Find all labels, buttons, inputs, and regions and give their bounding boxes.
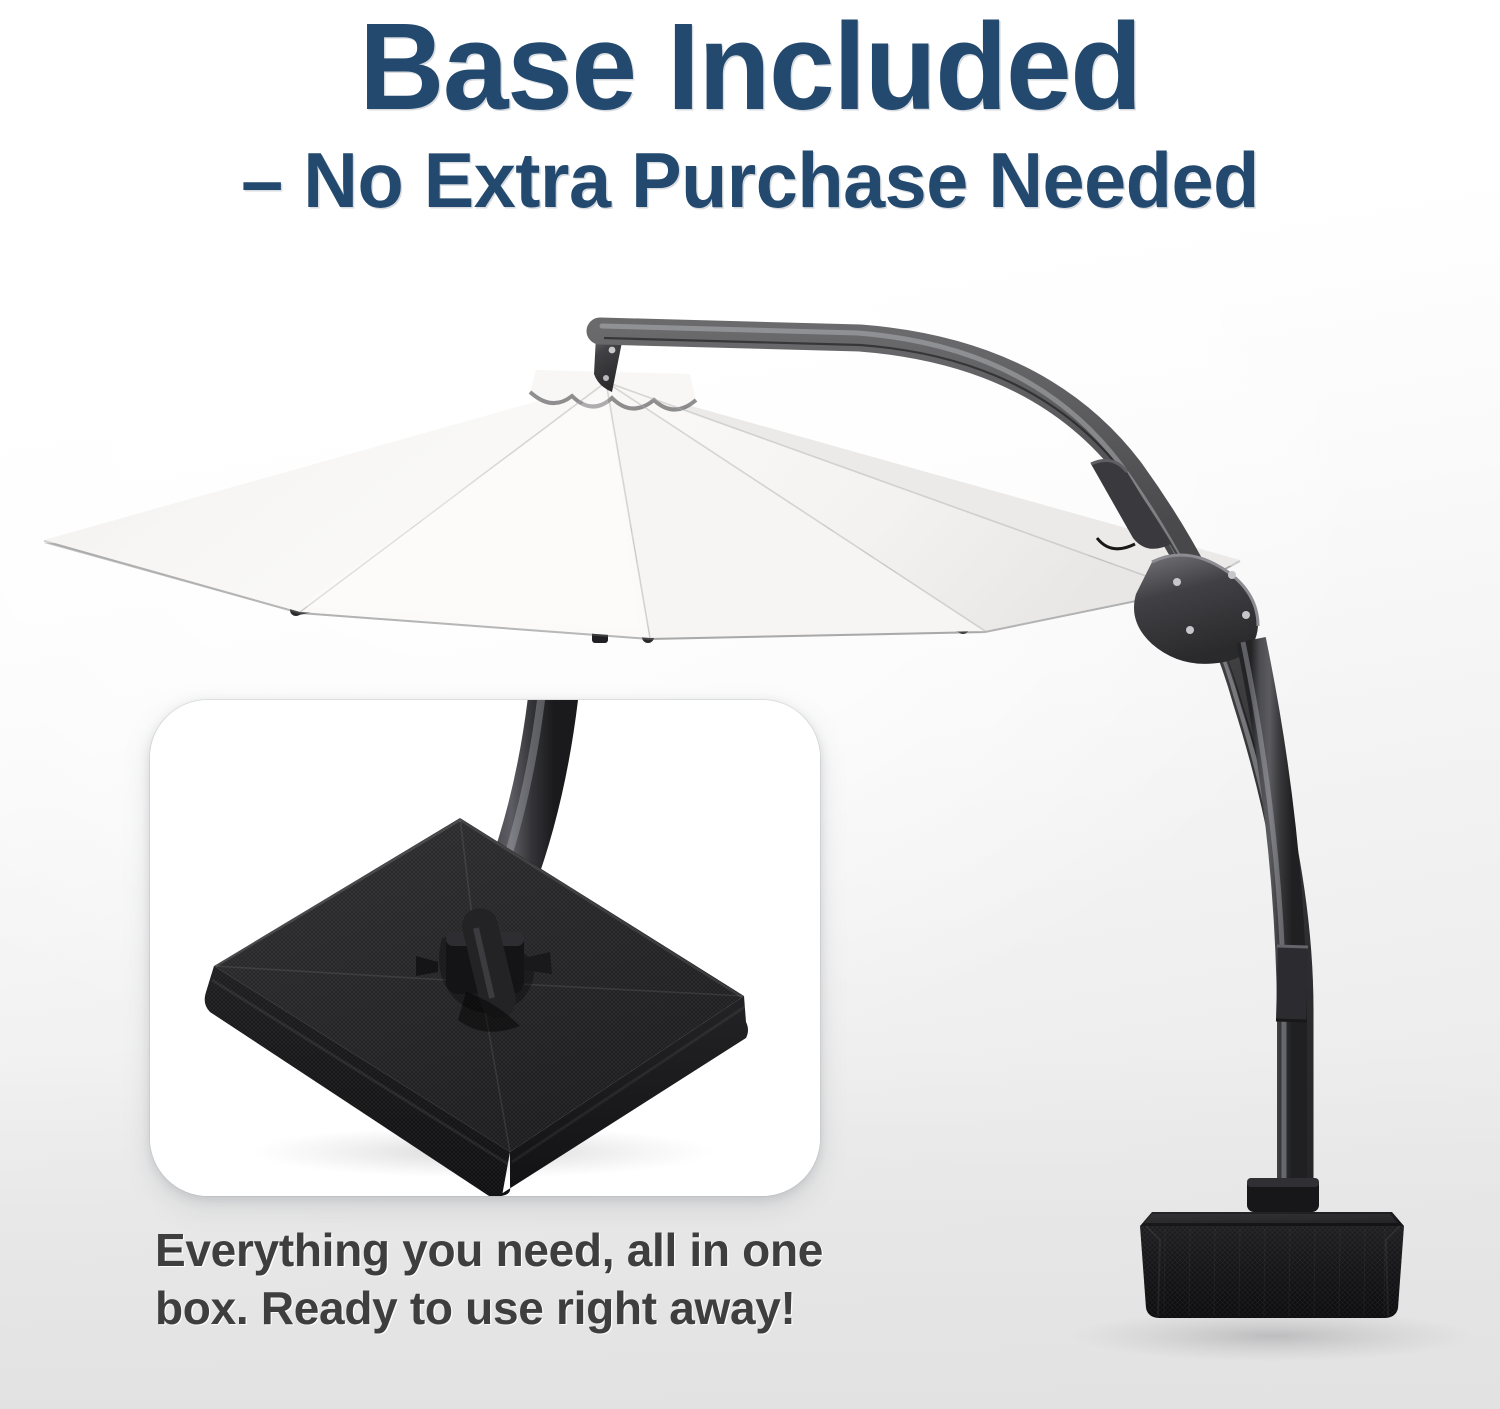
headline-line-2: – No Extra Purchase Needed bbox=[23, 141, 1478, 219]
headline-line-1: Base Included bbox=[30, 6, 1470, 129]
caption-block: Everything you need, all in one box. Rea… bbox=[155, 1222, 875, 1337]
caption-line-2: box. Ready to use right away! bbox=[155, 1280, 875, 1338]
product-marketing-image: Base Included – No Extra Purchase Needed bbox=[0, 0, 1500, 1409]
caption-line-1: Everything you need, all in one bbox=[155, 1222, 875, 1280]
base-closeup-callout bbox=[150, 700, 820, 1196]
headline-block: Base Included – No Extra Purchase Needed bbox=[0, 6, 1500, 219]
base-closeup-illustration bbox=[150, 700, 820, 1196]
